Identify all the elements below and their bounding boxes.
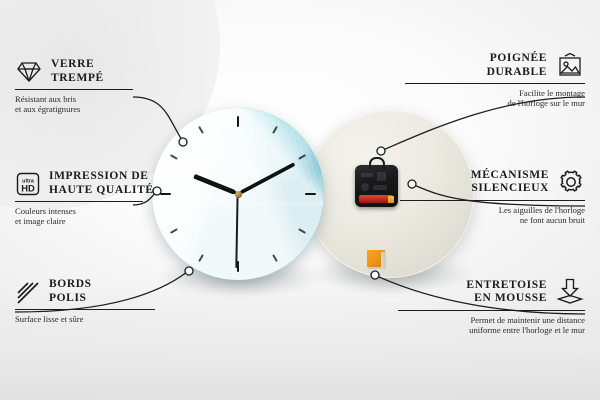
callout-bords-polis[interactable]: BORDS POLIS Surface lisse et sûre [15, 278, 195, 324]
callout-verre-trempe[interactable]: VERRE TREMPÉ Résistant aux bris et aux é… [15, 58, 195, 115]
mech-screw-d [373, 185, 387, 190]
callout-title: POIGNÉE DURABLE [487, 52, 547, 79]
callout-subtitle-line1: Permet de maintenir une distance [398, 315, 585, 326]
callout-subtitle-line2: et aux égratignures [15, 104, 195, 115]
callout-subtitle-line1: Surface lisse et sûre [15, 314, 195, 325]
callout-header: MÉCANISME SILENCIEUX [400, 168, 585, 196]
infographic-canvas: VERRE TREMPÉ Résistant aux bris et aux é… [0, 0, 600, 400]
callout-divider [15, 309, 155, 310]
foam-spacer-pad[interactable] [367, 250, 385, 267]
callout-subtitle-line2: et image claire [15, 216, 195, 227]
callout-subtitle-line1: Couleurs intenses [15, 206, 195, 217]
callout-subtitle-line1: Les aiguilles de l'horloge [400, 205, 585, 216]
polished-edges-icon [15, 280, 41, 304]
quartz-mechanism[interactable] [355, 165, 398, 207]
callout-header: ENTRETOISE EN MOUSSE [398, 278, 585, 306]
mech-screw-c [361, 183, 369, 191]
callout-divider [405, 83, 585, 84]
callout-subtitle-line1: Résistant aux bris [15, 94, 195, 105]
callout-subtitle-line2: uniforme entre l'horloge et le mur [398, 325, 585, 336]
ultra-hd-badge-icon: ultra HD [15, 171, 41, 197]
callout-title: BORDS POLIS [49, 278, 92, 305]
gear-icon [557, 168, 585, 196]
svg-text:HD: HD [21, 182, 35, 193]
callout-subtitle-line2: de l'horloge sur le mur [405, 98, 585, 109]
callout-poignee-durable[interactable]: POIGNÉE DURABLE Facilite le montage de l… [405, 52, 585, 109]
callout-header: POIGNÉE DURABLE [405, 52, 585, 79]
callout-header: ultra HD IMPRESSION DE HAUTE QUALITÉ [15, 170, 195, 197]
callout-mecanisme-silencieux[interactable]: MÉCANISME SILENCIEUX Les aiguilles de l'… [400, 168, 585, 226]
hour-tick [237, 116, 239, 194]
mech-screw-b [377, 172, 386, 181]
foam-pad-arrow-icon [555, 278, 585, 306]
wall-hanger-loop [369, 157, 385, 169]
hour-tick [238, 193, 316, 195]
hanging-frame-icon [555, 53, 585, 79]
callout-subtitle-line2: ne font aucun bruit [400, 215, 585, 226]
callout-impression[interactable]: ultra HD IMPRESSION DE HAUTE QUALITÉ Cou… [15, 170, 195, 227]
diamond-icon [15, 60, 43, 84]
mech-screw-a [361, 173, 373, 177]
callout-header: BORDS POLIS [15, 278, 195, 305]
callout-header: VERRE TREMPÉ [15, 58, 195, 85]
callout-title: IMPRESSION DE HAUTE QUALITÉ [49, 170, 154, 197]
callout-title: ENTRETOISE EN MOUSSE [466, 279, 547, 306]
callout-divider [398, 310, 585, 311]
callout-title: VERRE TREMPÉ [51, 58, 104, 85]
aa-battery [359, 195, 393, 203]
callout-divider [400, 200, 585, 201]
callout-subtitle-line1: Facilite le montage [405, 88, 585, 99]
callout-divider [15, 89, 133, 90]
callout-entretoise-mousse[interactable]: ENTRETOISE EN MOUSSE Permet de maintenir… [398, 278, 585, 336]
hands-hub [235, 191, 242, 198]
callout-divider [15, 201, 143, 202]
callout-title: MÉCANISME SILENCIEUX [471, 169, 549, 196]
